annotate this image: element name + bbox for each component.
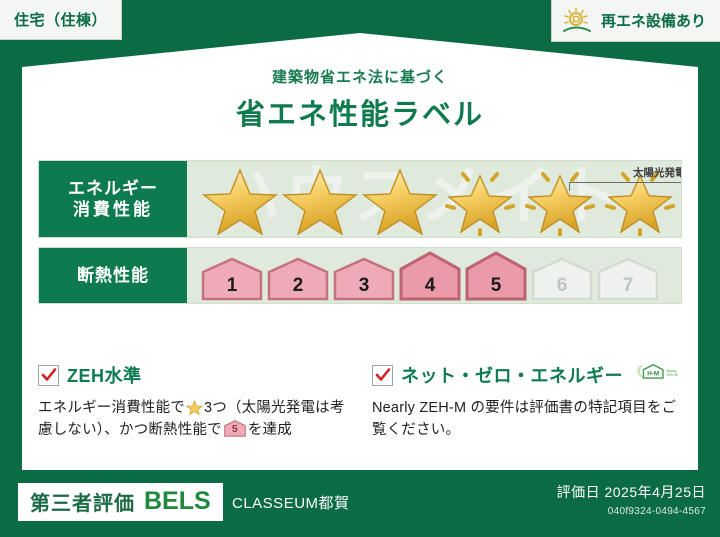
insulation-grade-list: 1 2 3: [187, 251, 659, 301]
insulation-grade-1: 1: [201, 257, 263, 301]
energy-label-line2: 消費性能: [73, 199, 153, 220]
insulation-grade-5: 5: [465, 251, 527, 301]
evaluation-info: 評価日 2025年4月25日 040f9324-0494-4567: [557, 482, 706, 517]
project-name: CLASSEUM都賀: [232, 492, 350, 513]
building-type-badge-label: 住宅（住棟）: [14, 9, 107, 30]
renewable-badge-label: 再エネ設備あり: [601, 10, 706, 31]
insulation-performance-label: 断熱性能: [39, 248, 187, 303]
svg-text:ZEH-M: ZEH-M: [666, 373, 677, 377]
energy-label-line1: エネルギー: [68, 178, 158, 199]
energy-performance-label: 住宅（住棟） 再エネ設備あり 建築物省エネ法に基づく: [0, 0, 720, 537]
star-icon-solar: [441, 162, 519, 236]
star-icon: [361, 162, 439, 236]
insulation-grade-6: 6: [531, 257, 593, 301]
nzeb-checkbox-checked-icon: [372, 365, 393, 386]
evaluation-date-label: 評価日: [557, 484, 601, 500]
inline-star-icon: [186, 399, 203, 416]
building-type-badge: 住宅（住棟）: [0, 0, 122, 40]
insulation-performance-row: 断熱性能 1 2: [38, 247, 682, 304]
energy-consumption-label: エネルギー 消費性能: [39, 161, 187, 237]
insulation-performance-value: 1 2 3: [187, 248, 681, 303]
star-rating: [187, 162, 679, 236]
evaluation-id: 040f9324-0494-4567: [557, 506, 706, 517]
svg-text:Nearly: Nearly: [666, 369, 676, 373]
bels-third-party-badge: 第三者評価 BELS: [18, 483, 223, 521]
evaluation-date: 評価日 2025年4月25日: [557, 482, 706, 502]
nzeb-note-body: Nearly ZEH-M の要件は評価書の特記項目をご覧ください。: [372, 397, 684, 442]
zeh-m-logo-icon: H-M Nearly ZEH-M: [635, 362, 684, 388]
insulation-grade-7: 7: [597, 257, 659, 301]
bels-logo-text: BELS: [144, 487, 211, 516]
star-icon: [281, 162, 359, 236]
inline-grade-house-icon: 5: [224, 420, 246, 437]
evaluation-date-value: 2025年4月25日: [604, 484, 706, 500]
label-footer: 第三者評価 BELS CLASSEUM都賀 評価日 2025年4月25日 040…: [0, 470, 720, 537]
zeh-body-part3: を達成: [248, 422, 292, 438]
insulation-grade-2: 2: [267, 257, 329, 301]
nzeb-note-header: ネット・ゼロ・エネルギー H-M Nearly ZEH-M: [372, 362, 684, 388]
page-title: 建築物省エネ法に基づく 省エネ性能ラベル: [0, 66, 720, 133]
renewable-equipment-badge: 再エネ設備あり: [551, 0, 720, 42]
zeh-standard-note: ZEH水準 エネルギー消費性能で 3つ（太陽光発電は考慮しない）、かつ断熱性能で…: [38, 362, 350, 442]
solar-sun-icon: [560, 6, 594, 36]
star-icon: [201, 162, 279, 236]
notes-section: ZEH水準 エネルギー消費性能で 3つ（太陽光発電は考慮しない）、かつ断熱性能で…: [38, 362, 684, 442]
title-main: 省エネ性能ラベル: [0, 91, 720, 133]
zeh-note-body: エネルギー消費性能で 3つ（太陽光発電は考慮しない）、かつ断熱性能で 5 を達成: [38, 397, 350, 442]
third-party-label: 第三者評価: [30, 487, 135, 516]
nzeb-note-title: ネット・ゼロ・エネルギー: [401, 362, 623, 388]
zeh-body-star-count: 3つ（太陽光発電: [204, 400, 315, 416]
energy-consumption-value: ハウスメイト: [187, 161, 681, 237]
zeh-checkbox-checked-icon: [38, 365, 59, 386]
insulation-grade-3: 3: [333, 257, 395, 301]
insulation-grade-4: 4: [399, 251, 461, 301]
title-subtitle: 建築物省エネ法に基づく: [0, 66, 720, 87]
energy-consumption-row: エネルギー 消費性能 ハウスメイト: [38, 160, 682, 238]
zeh-body-part1: エネルギー消費性能で: [38, 400, 185, 416]
svg-text:H-M: H-M: [647, 370, 659, 377]
zeh-note-header: ZEH水準: [38, 362, 350, 388]
inline-grade-value: 5: [224, 421, 246, 437]
net-zero-energy-note: ネット・ゼロ・エネルギー H-M Nearly ZEH-M Nearly ZEH…: [372, 362, 684, 442]
metric-rows: エネルギー 消費性能 ハウスメイト: [38, 160, 682, 313]
star-icon-solar: [601, 162, 679, 236]
zeh-note-title: ZEH水準: [67, 362, 142, 388]
star-icon-solar: [521, 162, 599, 236]
insulation-label-text: 断熱性能: [77, 265, 149, 286]
